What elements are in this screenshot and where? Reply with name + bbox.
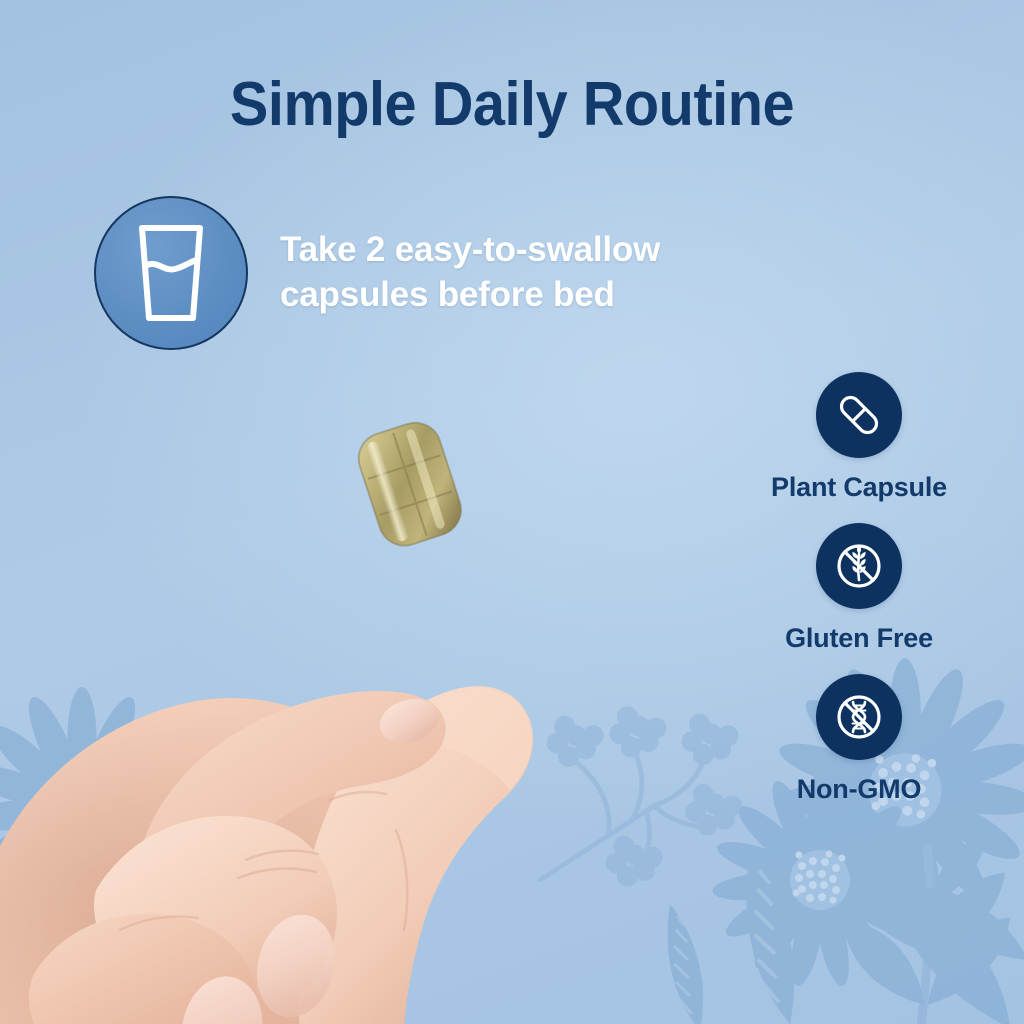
instruction-icon-circle xyxy=(94,196,248,350)
certification-badge-list: Plant Capsule xyxy=(694,372,1024,805)
badge-non-gmo[interactable]: Non-GMO xyxy=(797,674,922,805)
no-wheat-icon xyxy=(833,540,885,592)
instruction-text: Take 2 easy-to-swallow capsules before b… xyxy=(280,228,660,318)
instruction-line-1: Take 2 easy-to-swallow xyxy=(280,228,660,273)
badge-icon-circle xyxy=(816,523,902,609)
badge-plant-capsule[interactable]: Plant Capsule xyxy=(771,372,947,503)
badge-label: Plant Capsule xyxy=(771,472,947,503)
hand-holding-capsule-photo xyxy=(0,330,700,1024)
page-title: Simple Daily Routine xyxy=(36,72,988,137)
instruction-line-2: capsules before bed xyxy=(280,273,660,318)
badge-icon-circle xyxy=(816,372,902,458)
water-glass-icon xyxy=(128,220,214,326)
instruction-row: Take 2 easy-to-swallow capsules before b… xyxy=(94,196,660,350)
badge-label: Non-GMO xyxy=(797,774,922,805)
badge-label: Gluten Free xyxy=(785,623,933,654)
capsule-icon xyxy=(834,390,884,440)
no-dna-icon xyxy=(833,691,885,743)
poster-canvas: Simple Daily Routine Take 2 easy-to-swal… xyxy=(0,0,1024,1024)
badge-icon-circle xyxy=(816,674,902,760)
badge-gluten-free[interactable]: Gluten Free xyxy=(785,523,933,654)
